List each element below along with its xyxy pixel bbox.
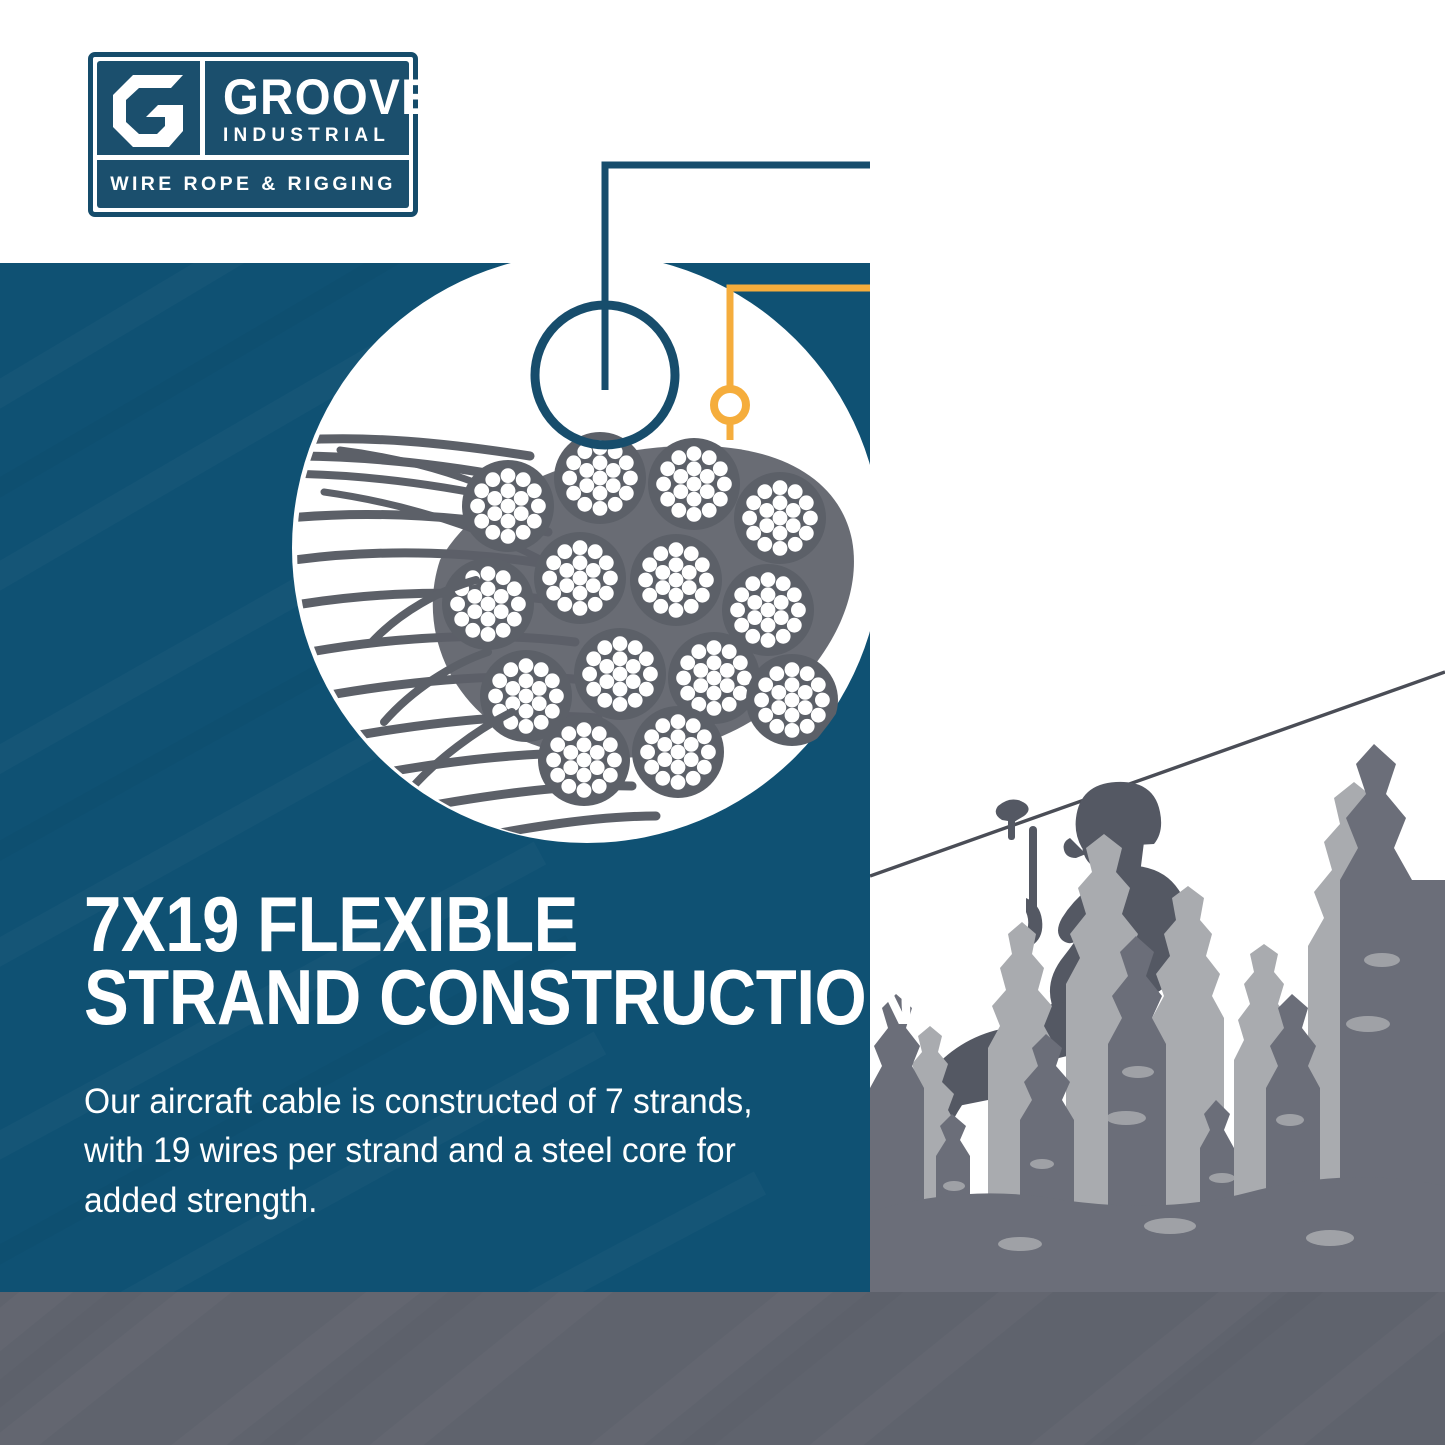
groove-g-icon xyxy=(113,75,189,147)
band-stripe-texture xyxy=(0,1292,1445,1445)
logo-mark-box xyxy=(97,61,205,160)
infographic-page: GROOVE INDUSTRIAL WIRE ROPE & RIGGING xyxy=(0,0,1445,1445)
zipline-scene-art xyxy=(870,0,1445,1292)
brand-logo: GROOVE INDUSTRIAL WIRE ROPE & RIGGING xyxy=(88,52,418,217)
logo-name: GROOVE xyxy=(223,74,394,120)
logo-top-section: GROOVE INDUSTRIAL xyxy=(97,61,409,160)
headline-line-2: STRAND CONSTRUCTION xyxy=(84,961,738,1034)
logo-subtitle: INDUSTRIAL xyxy=(223,125,409,147)
page-title: 7X19 FLEXIBLE STRAND CONSTRUCTION xyxy=(84,888,738,1035)
logo-wordmark: GROOVE INDUSTRIAL xyxy=(210,61,409,160)
body-paragraph: Our aircraft cable is constructed of 7 s… xyxy=(84,1077,775,1226)
logo-tagline: WIRE ROPE & RIGGING xyxy=(97,160,409,208)
orange-anchor-ring xyxy=(714,389,746,421)
logo-inner-panel: GROOVE INDUSTRIAL WIRE ROPE & RIGGING xyxy=(97,61,409,208)
headline-block: 7X19 FLEXIBLE STRAND CONSTRUCTION Our ai… xyxy=(84,888,844,1226)
bottom-gray-band xyxy=(0,1292,1445,1445)
headline-line-1: 7X19 FLEXIBLE xyxy=(84,888,738,961)
zipline-scene xyxy=(870,0,1445,1292)
